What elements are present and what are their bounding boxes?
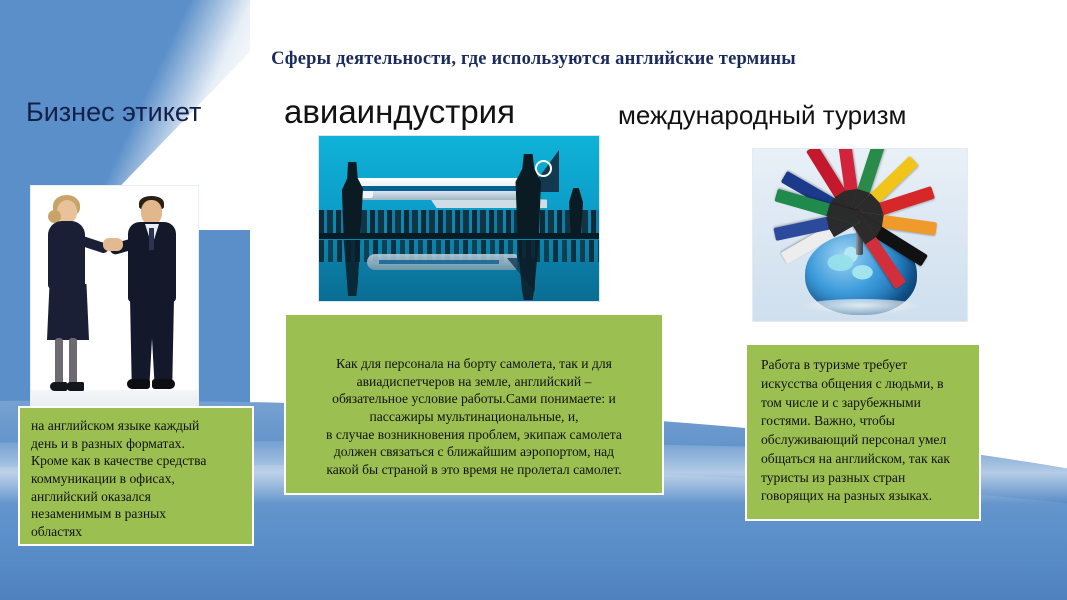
caption-line: Как для персонала на борту самолета, так… — [296, 355, 652, 373]
caption-line: Кроме как в качестве средства — [31, 452, 242, 470]
woman-skirt — [47, 284, 89, 340]
airplane-tail-logo — [535, 160, 552, 177]
handshake-photo — [30, 185, 199, 409]
woman-dress-top — [48, 221, 85, 289]
woman-shoe-right — [66, 382, 84, 391]
horizon-line — [319, 233, 599, 239]
heading-international-tourism: международный туризм — [618, 100, 906, 131]
caption-line: туристы из разных стран — [761, 469, 967, 488]
caption-box-aviation: Как для персонала на борту самолета, так… — [284, 313, 664, 495]
woman-leg-right — [69, 338, 77, 386]
caption-line: какой бы страной в это время не пролетал… — [296, 461, 652, 479]
caption-line: обязательное условие работы.Сами понимае… — [296, 390, 652, 408]
caption-line: в случае возникновения проблем, экипаж с… — [296, 426, 652, 444]
heading-aviation-industry: авиаиндустрия — [284, 93, 515, 131]
airplane-reflection-stripe — [379, 260, 499, 264]
caption-line: коммуникации в офисах, — [31, 470, 242, 488]
airplane-stripe — [359, 186, 529, 191]
caption-line: искусства общения с людьми, в — [761, 375, 967, 394]
heading-business-etiquette: Бизнес этикет — [26, 97, 201, 128]
caption-line: на английском языке каждый — [31, 417, 242, 435]
caption-line: пассажиры мультинациональные, и, — [296, 408, 652, 426]
woman-shoe-left — [50, 382, 67, 391]
caption-line: том числе и с зарубежными — [761, 394, 967, 413]
presentation-slide: Сферы деятельности, где используются анг… — [0, 0, 1067, 600]
globe-base-reflection — [799, 299, 923, 315]
caption-line: авиадиспетчеров на земле, английский – — [296, 373, 652, 391]
caption-line: областях — [31, 523, 242, 541]
caption-line: говорящих на разных языках. — [761, 487, 967, 506]
caption-box-tourism: Работа в туризме требует искусства общен… — [745, 343, 981, 521]
caption-line: должен связаться с ближайшим аэропортом,… — [296, 443, 652, 461]
handshake-hands — [103, 238, 123, 251]
caption-line: Работа в туризме требует — [761, 356, 967, 375]
woman-leg-left — [55, 338, 63, 386]
caption-box-business: на английском языке каждый день и в разн… — [18, 406, 254, 546]
man-trousers — [130, 298, 174, 386]
caption-line: английский оказался — [31, 488, 242, 506]
globe-flags-photo — [752, 148, 968, 322]
man-tie — [149, 228, 154, 250]
airplane-photo — [318, 135, 600, 302]
caption-line: незаменимым в разных — [31, 505, 242, 523]
man-shoe-left — [127, 379, 150, 389]
caption-line: день и в разных форматах. — [31, 435, 242, 453]
slide-title: Сферы деятельности, где используются анг… — [0, 49, 1067, 70]
caption-line: гостями. Важно, чтобы — [761, 412, 967, 431]
caption-line: общаться на английском, так как — [761, 450, 967, 469]
man-shoe-right — [152, 379, 175, 389]
caption-line: обслуживающий персонал умел — [761, 431, 967, 450]
